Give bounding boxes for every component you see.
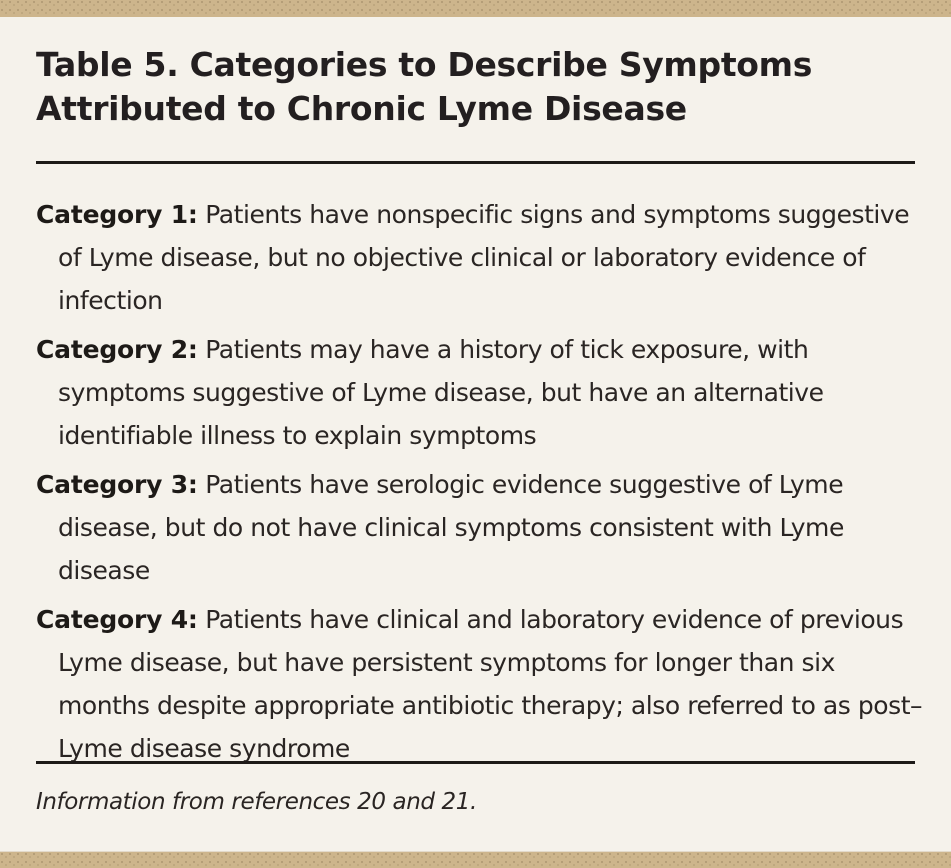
list-item: Category 3: Patients have serologic evid…: [36, 463, 926, 592]
category-label: Category 4:: [36, 605, 198, 634]
table-figure: Table 5. Categories to Describe Symptoms…: [0, 0, 951, 868]
list-item: Category 2: Patients may have a history …: [36, 328, 926, 457]
list-item: Category 1: Patients have nonspecific si…: [36, 193, 926, 322]
table-content-area: Table 5. Categories to Describe Symptoms…: [0, 17, 951, 852]
category-label: Category 2:: [36, 335, 198, 364]
category-list: Category 1: Patients have nonspecific si…: [36, 193, 926, 776]
page-title-line-1: Table 5. Categories to Describe Symptoms: [36, 43, 916, 87]
footer-divider-rule: [36, 761, 915, 764]
category-label: Category 3:: [36, 470, 198, 499]
page-title-line-2: Attributed to Chronic Lyme Disease: [36, 87, 916, 131]
category-label: Category 1:: [36, 200, 198, 229]
list-item: Category 4: Patients have clinical and l…: [36, 598, 926, 770]
header-divider-rule: [36, 161, 915, 164]
page-title: Table 5. Categories to Describe Symptoms…: [36, 43, 916, 131]
decorative-top-band: [0, 0, 951, 18]
decorative-bottom-band: [0, 851, 951, 868]
source-footnote: Information from references 20 and 21.: [36, 787, 477, 817]
